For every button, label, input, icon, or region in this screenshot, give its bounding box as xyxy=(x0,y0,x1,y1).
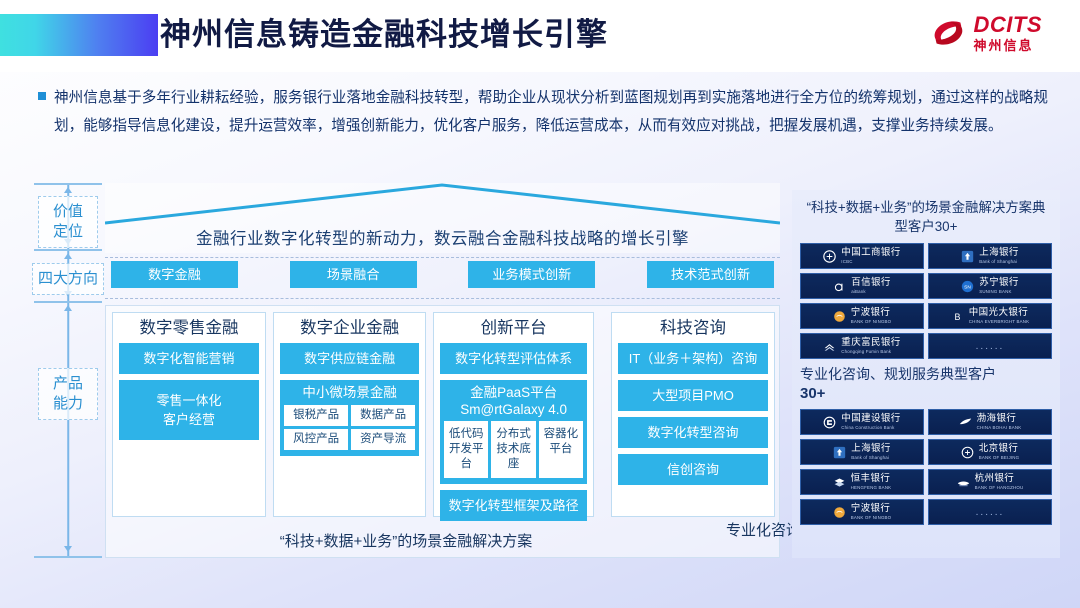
four-directions-row: 数字金融 场景融合 业务模式创新 技术范式创新 xyxy=(105,261,780,293)
bank-logo-aibank[interactable]: 百信银行 aiBank xyxy=(800,273,924,299)
bank-label: 杭州银行 BANK OF HANGZHOU xyxy=(975,474,1024,490)
bank-logo-shanghai-2[interactable]: 上海银行 Bank of Shanghai xyxy=(800,439,924,465)
paas-subitems: 低代码开发平台 分布式技术底座 容器化平台 xyxy=(444,421,583,478)
bank-label: 中国工商银行 ICBC xyxy=(841,248,900,264)
capability-column-innovation: 创新平台 数字化转型评估体系 金融PaaS平台 Sm@rtGalaxy 4.0 … xyxy=(433,312,594,517)
bank-label: 百信银行 aiBank xyxy=(851,278,891,294)
axis-arrow-up-1 xyxy=(64,187,72,193)
bank-label: 上海银行 Bank of Shanghai xyxy=(979,248,1019,264)
axis-arrow-up-3 xyxy=(64,305,72,311)
capability-column-consulting: 科技咨询 IT（业务＋架构）咨询 大型项目PMO 数字化转型咨询 信创咨询 xyxy=(611,312,775,517)
roof-shape-icon xyxy=(105,183,780,225)
bank-name-cn: 苏宁银行 xyxy=(979,278,1019,288)
axis-arrow-down-3 xyxy=(64,546,72,552)
bank-name-en: BANK OF NINGBO xyxy=(851,320,892,324)
sub-item-tax-bank-product[interactable]: 银税产品 xyxy=(284,405,348,426)
sme-subitems: 银税产品 数据产品 风控产品 资产导流 xyxy=(284,405,415,450)
bank-label: 渤海银行 CHINA BOHAI BANK xyxy=(977,414,1022,430)
bank-logo-ningbo-2[interactable]: 宁波银行 BANK OF NINGBO xyxy=(800,499,924,525)
bank-name-en: China Construction Bank xyxy=(841,426,894,430)
column-title-retail: 数字零售金融 xyxy=(119,318,259,338)
bank-of-shanghai-logo-icon xyxy=(961,250,974,263)
slide-root: 神州信息铸造金融科技增长引擎 DCITS 神州信息 神州信息基于多年行业耕耘经验… xyxy=(0,0,1080,608)
bank-of-hangzhou-logo-icon xyxy=(957,476,970,489)
item-digital-smart-marketing[interactable]: 数字化智能营销 xyxy=(119,343,259,374)
axis-arrow-up-2 xyxy=(64,253,72,259)
value-statement: 金融行业数字化转型的新动力，数云融合金融科技战略的增长引擎 xyxy=(105,225,780,249)
bank-name-en: BANK OF BEIJING xyxy=(979,456,1020,460)
bank-label: 宁波银行 BANK OF NINGBO xyxy=(851,504,892,520)
bank-name-en: Bank of Shanghai xyxy=(851,456,889,460)
direction-chip-3[interactable]: 业务模式创新 xyxy=(468,261,595,288)
customer-heading-2: 专业化咨询、规划服务典型客户 30+ xyxy=(800,365,1052,403)
bank-name-en: aiBank xyxy=(851,290,866,294)
bank-logo-everbright[interactable]: B 中国光大银行 CHINA EVERBRIGHT BANK xyxy=(928,303,1052,329)
item-digital-transformation-consulting[interactable]: 数字化转型咨询 xyxy=(618,417,768,448)
paas-title-line1: 金融PaaS平台 xyxy=(444,384,583,401)
capability-columns: 数字零售金融 数字化智能营销 零售一体化 客户经营 数字企业金融 数字供应链金融… xyxy=(112,312,775,517)
left-axis: 价值 定位 四大方向 产品 能力 xyxy=(32,183,104,558)
bank-name-cn: 中国工商银行 xyxy=(841,248,900,258)
column-title-consulting: 科技咨询 xyxy=(618,318,768,338)
group-title-sme: 中小微场景金融 xyxy=(284,384,415,401)
bank-name-cn: 北京银行 xyxy=(979,444,1019,454)
logo-cn-text: 神州信息 xyxy=(974,39,1043,52)
sub-item-container-platform[interactable]: 容器化平台 xyxy=(539,421,583,478)
bullet-square-icon xyxy=(38,92,46,100)
sub-item-distributed-base[interactable]: 分布式技术底座 xyxy=(491,421,535,478)
bank-name-cn: 中国光大银行 xyxy=(969,308,1028,318)
bank-name-en: Chongqing Fumin Bank xyxy=(841,350,891,354)
customer-logo-grid-1: 中国工商银行 ICBC 上海银行 Bank of Shanghai 百信 xyxy=(800,243,1052,359)
bank-of-shanghai-logo-icon xyxy=(833,446,846,459)
title-accent-bar xyxy=(0,14,158,56)
axis-cap-1 xyxy=(34,249,102,251)
bank-logo-more-2[interactable]: ...... xyxy=(928,499,1052,525)
axis-cap-bottom xyxy=(34,556,102,558)
axis-cap-top xyxy=(34,183,102,185)
capability-column-retail: 数字零售金融 数字化智能营销 零售一体化 客户经营 xyxy=(112,312,266,517)
item-transformation-framework-path[interactable]: 数字化转型框架及路径 xyxy=(440,490,587,521)
bank-name-en: BANK OF HANGZHOU xyxy=(975,486,1024,490)
bank-logo-hengfeng[interactable]: 恒丰银行 HENGFENG BANK xyxy=(800,469,924,495)
bank-logo-fumin[interactable]: 重庆富民银行 Chongqing Fumin Bank xyxy=(800,333,924,359)
paas-title-line2: Sm@rtGalaxy 4.0 xyxy=(444,401,583,418)
bank-name-cn: 宁波银行 xyxy=(851,504,891,514)
bank-logo-bohai[interactable]: 渤海银行 CHINA BOHAI BANK xyxy=(928,409,1052,435)
value-position-zone: 金融行业数字化转型的新动力，数云融合金融科技战略的增长引擎 xyxy=(105,183,780,253)
everbright-bank-logo-icon: B xyxy=(951,310,964,323)
bank-of-ningbo-logo-icon xyxy=(833,310,846,323)
sub-item-data-product[interactable]: 数据产品 xyxy=(351,405,415,426)
bank-label: 重庆富民银行 Chongqing Fumin Bank xyxy=(841,338,900,354)
bank-label: 中国建设银行 China Construction Bank xyxy=(841,414,900,430)
logo-en-text: DCITS xyxy=(974,14,1043,36)
bank-logo-ccb[interactable]: 中国建设银行 China Construction Bank xyxy=(800,409,924,435)
bank-name-en: Bank of Shanghai xyxy=(979,260,1017,264)
page-title: 神州信息铸造金融科技增长引擎 xyxy=(160,12,608,58)
column-title-innovation: 创新平台 xyxy=(440,318,587,338)
bank-label: 宁波银行 BANK OF NINGBO xyxy=(851,308,892,324)
bank-name-cn: 恒丰银行 xyxy=(851,474,891,484)
item-digital-supply-chain-finance[interactable]: 数字供应链金融 xyxy=(280,343,419,374)
sub-item-lowcode-platform[interactable]: 低代码开发平台 xyxy=(444,421,488,478)
bank-name-cn: 重庆富民银行 xyxy=(841,338,900,348)
bank-name-cn: 杭州银行 xyxy=(975,474,1015,484)
axis-label-four-directions: 四大方向 xyxy=(32,263,104,295)
fumin-bank-logo-icon xyxy=(823,340,836,353)
divider-bottom xyxy=(105,298,780,299)
bank-name-en: BANK OF NINGBO xyxy=(851,516,892,520)
svg-text:B: B xyxy=(954,311,960,321)
customer-heading-2-count: 30+ xyxy=(800,385,825,402)
slide-header: 神州信息铸造金融科技增长引擎 DCITS 神州信息 xyxy=(0,0,1080,72)
bank-label: 恒丰银行 HENGFENG BANK xyxy=(851,474,892,490)
item-it-consulting[interactable]: IT（业务＋架构）咨询 xyxy=(618,343,768,374)
ellipsis-icon: ...... xyxy=(976,507,1005,518)
bank-label: 北京银行 BANK OF BEIJING xyxy=(979,444,1020,460)
customer-heading-2-text: 专业化咨询、规划服务典型客户 xyxy=(800,366,996,382)
suning-bank-logo-icon: SN xyxy=(961,280,974,293)
bank-name-en: CHINA BOHAI BANK xyxy=(977,426,1022,430)
sub-item-asset-routing[interactable]: 资产导流 xyxy=(351,429,415,450)
bank-name-cn: 中国建设银行 xyxy=(841,414,900,424)
sub-item-risk-control-product[interactable]: 风控产品 xyxy=(284,429,348,450)
center-diagram: 金融行业数字化转型的新动力，数云融合金融科技战略的增长引擎 数字金融 场景融合 … xyxy=(105,183,780,558)
item-large-project-pmo[interactable]: 大型项目PMO xyxy=(618,380,768,411)
company-logo: DCITS 神州信息 xyxy=(929,14,1043,52)
column-title-enterprise: 数字企业金融 xyxy=(280,318,419,338)
bank-name-en: ICBC xyxy=(841,260,852,264)
bank-logo-suning[interactable]: SN 苏宁银行 SUNING BANK xyxy=(928,273,1052,299)
dcits-swirl-icon xyxy=(929,14,967,52)
item-xinchuang-consulting[interactable]: 信创咨询 xyxy=(618,454,768,485)
bank-logo-more-1[interactable]: ...... xyxy=(928,333,1052,359)
axis-label-value-position: 价值 定位 xyxy=(38,196,98,248)
bank-name-cn: 渤海银行 xyxy=(977,414,1017,424)
bank-of-ningbo-logo-icon xyxy=(833,506,846,519)
item-retail-integrated-customer-ops[interactable]: 零售一体化 客户经营 xyxy=(119,380,259,440)
bank-label: 苏宁银行 SUNING BANK xyxy=(979,278,1019,294)
group-sme-scenario-finance[interactable]: 中小微场景金融 银税产品 数据产品 风控产品 资产导流 xyxy=(280,380,419,456)
direction-chip-4[interactable]: 技术范式创新 xyxy=(647,261,774,288)
bank-name-cn: 宁波银行 xyxy=(851,308,891,318)
bank-name-cn: 上海银行 xyxy=(851,444,891,454)
customer-logo-grid-2: 中国建设银行 China Construction Bank 渤海银行 CHIN… xyxy=(800,409,1052,525)
axis-label-product-capability: 产品 能力 xyxy=(38,368,98,420)
bank-logo-hangzhou[interactable]: 杭州银行 BANK OF HANGZHOU xyxy=(928,469,1052,495)
bohai-bank-logo-icon xyxy=(959,416,972,429)
product-capability-zone: 数字零售金融 数字化智能营销 零售一体化 客户经营 数字企业金融 数字供应链金融… xyxy=(105,305,780,558)
bank-logo-icbc[interactable]: 中国工商银行 ICBC xyxy=(800,243,924,269)
capability-column-enterprise: 数字企业金融 数字供应链金融 中小微场景金融 银税产品 数据产品 风控产品 资产… xyxy=(273,312,426,517)
logo-wordmark: DCITS 神州信息 xyxy=(974,14,1043,52)
bank-logo-shanghai[interactable]: 上海银行 Bank of Shanghai xyxy=(928,243,1052,269)
bank-logo-beijing[interactable]: 北京银行 BANK OF BEIJING xyxy=(928,439,1052,465)
customer-heading-1: “科技+数据+业务”的场景金融解决方案典型客户30+ xyxy=(800,198,1052,236)
bank-label: 上海银行 Bank of Shanghai xyxy=(851,444,891,460)
bank-name-cn: 百信银行 xyxy=(851,278,891,288)
bank-name-cn: 上海银行 xyxy=(979,248,1019,258)
divider-top xyxy=(105,257,780,258)
ellipsis-icon: ...... xyxy=(976,341,1005,352)
group-financial-paas[interactable]: 金融PaaS平台 Sm@rtGalaxy 4.0 低代码开发平台 分布式技术底座… xyxy=(440,380,587,484)
bank-name-en: CHINA EVERBRIGHT BANK xyxy=(969,320,1029,324)
bank-name-en: HENGFENG BANK xyxy=(851,486,892,490)
axis-cap-2 xyxy=(34,301,102,303)
aibank-logo-icon xyxy=(833,280,846,293)
hengfeng-bank-logo-icon xyxy=(833,476,846,489)
bank-label: 中国光大银行 CHINA EVERBRIGHT BANK xyxy=(969,308,1029,324)
intro-paragraph: 神州信息基于多年行业耕耘经验，服务银行业落地金融科技转型，帮助企业从现状分析到蓝… xyxy=(38,84,1048,140)
bank-name-en: SUNING BANK xyxy=(979,290,1011,294)
customer-panel: “科技+数据+业务”的场景金融解决方案典型客户30+ 中国工商银行 ICBC 上… xyxy=(792,190,1060,558)
svg-text:SN: SN xyxy=(964,284,971,290)
direction-chip-2[interactable]: 场景融合 xyxy=(290,261,417,288)
direction-chip-1[interactable]: 数字金融 xyxy=(111,261,238,288)
item-transformation-assessment-system[interactable]: 数字化转型评估体系 xyxy=(440,343,587,374)
solution-footer-label: “科技+数据+业务”的场景金融解决方案 xyxy=(106,530,706,551)
bank-of-beijing-logo-icon xyxy=(961,446,974,459)
icbc-logo-icon xyxy=(823,250,836,263)
bank-logo-ningbo[interactable]: 宁波银行 BANK OF NINGBO xyxy=(800,303,924,329)
ccb-logo-icon xyxy=(823,416,836,429)
intro-text: 神州信息基于多年行业耕耘经验，服务银行业落地金融科技转型，帮助企业从现状分析到蓝… xyxy=(54,84,1048,140)
